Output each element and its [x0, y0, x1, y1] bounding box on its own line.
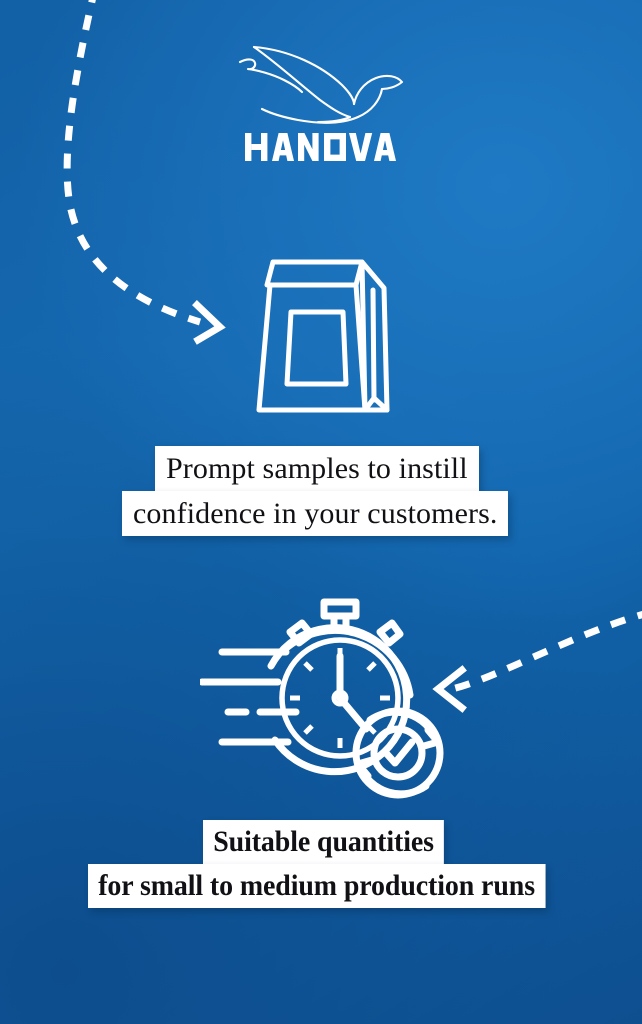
caption-quantities: Suitable quantities for small to medium …: [0, 820, 642, 908]
paper-bag-pouch-sample-icon: [243, 250, 403, 420]
dashed-curved-arrow-left-icon: [452, 612, 642, 689]
caption-samples: Prompt samples to instill confidence in …: [0, 446, 642, 536]
arrowhead-down-right-icon: [197, 305, 220, 340]
caption-quantities-line-1: Suitable quantities: [203, 820, 444, 864]
promo-poster: Prompt samples to instill confidence in …: [0, 0, 642, 1024]
caption-samples-line-2: confidence in your customers.: [122, 491, 508, 536]
hanova-wordmark-glyphs: [245, 132, 397, 162]
brand-logo: [0, 38, 642, 167]
stopwatch-speed-check-icon: [200, 590, 450, 800]
caption-samples-line-1: Prompt samples to instill: [155, 446, 479, 491]
brand-wordmark: [245, 132, 397, 167]
caption-quantities-line-2: for small to medium production runs: [88, 864, 545, 908]
dove-bird-outline-icon: [236, 38, 406, 128]
